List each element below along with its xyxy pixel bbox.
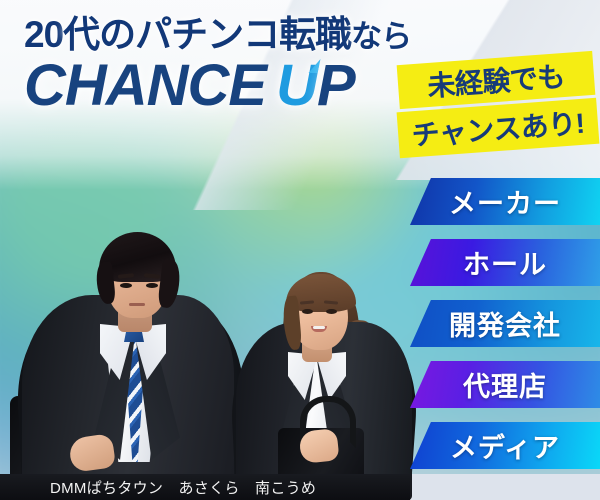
credit-caption-bar: DMMぱちタウン あさくら 南こうめ [0, 474, 410, 500]
category-label-media-text: メディア [450, 426, 560, 465]
businesswoman-teeth [313, 326, 325, 329]
people-photo-subjects [0, 155, 420, 500]
category-label-maker[interactable]: メーカー [410, 178, 600, 225]
headline-tagline-main: 代のパチンコ転職 [63, 14, 351, 55]
category-label-development-company-text: 開発会社 [449, 304, 561, 343]
logo-word-chance: CHANCE [24, 53, 266, 118]
category-label-development-company[interactable]: 開発会社 [410, 300, 600, 347]
category-label-agency[interactable]: 代理店 [410, 361, 600, 408]
logo-letter-p: P [317, 57, 355, 115]
credit-caption-text: DMMぱちタウン あさくら 南こうめ [50, 477, 316, 498]
headline-age-number: 20 [24, 14, 63, 55]
businessman-right-eye [146, 283, 158, 288]
logo-letter-u: U [276, 57, 317, 115]
chance-up-logo: CHANCEUP [24, 57, 424, 115]
businesswoman-right-eye [326, 309, 337, 314]
headline-tagline: 20代のパチンコ転職なら [24, 16, 424, 53]
category-label-maker-text: メーカー [449, 182, 561, 221]
businesswoman-left-eye [302, 309, 313, 314]
badge-no-experience-label: 未経験でも [426, 55, 566, 105]
businessman-mouth [129, 303, 145, 306]
category-label-agency-text: 代理店 [463, 365, 547, 404]
headline-group: 20代のパチンコ転職なら CHANCEUP [24, 16, 424, 115]
category-label-list: メーカー ホール 開発会社 代理店 メディア [410, 178, 600, 469]
category-label-hall[interactable]: ホール [410, 239, 600, 286]
headline-tagline-suffix: なら [351, 19, 411, 54]
businessman-left-eye [120, 283, 132, 288]
badge-chance-available-label: チャンスあり! [410, 102, 585, 155]
category-label-hall-text: ホール [463, 243, 547, 282]
businesswoman-hand [298, 428, 339, 464]
category-label-media[interactable]: メディア [410, 422, 600, 469]
recruitment-banner[interactable]: 20代のパチンコ転職なら CHANCEUP 未経験でも チャンスあり! メーカー… [0, 0, 600, 500]
